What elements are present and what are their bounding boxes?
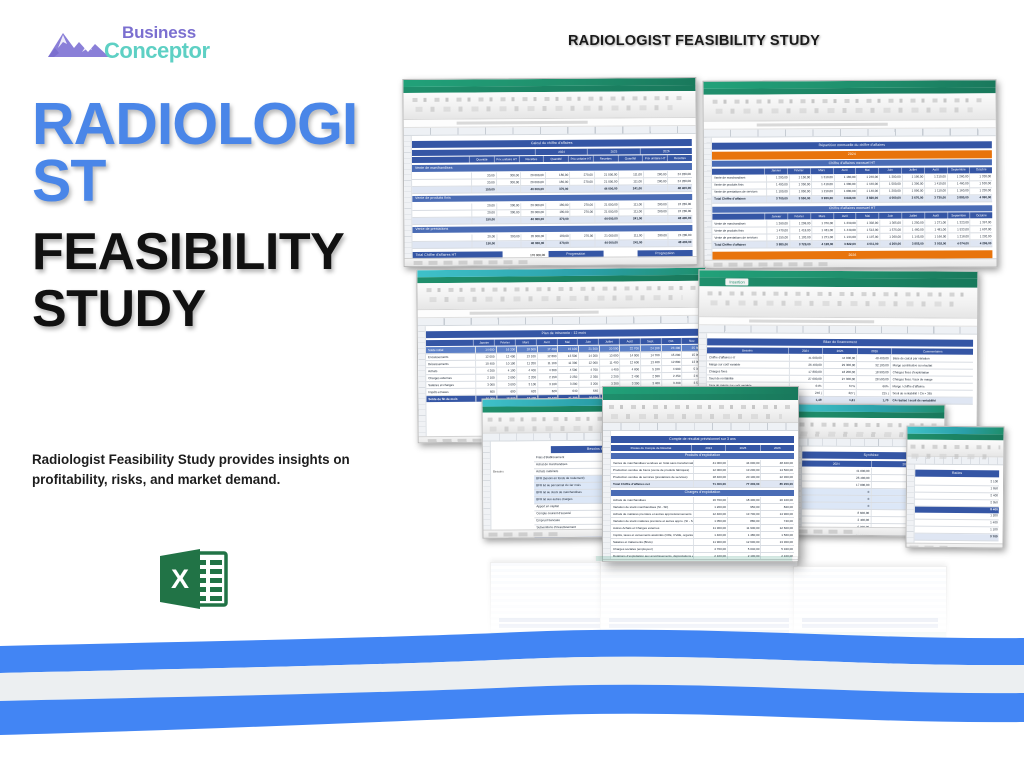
month-aug-2: Août — [925, 213, 948, 219]
col-2025: 2025 — [823, 348, 858, 354]
month-aug: Août — [925, 167, 948, 173]
worksheet-grid[interactable]: Calcul du chiffre d'affaires 2024 2025 2… — [404, 134, 697, 258]
col-besoins: Besoins — [707, 347, 789, 354]
ribbon-toolbar[interactable] — [907, 440, 1003, 458]
col-price-2: Prix unitaire HT — [569, 156, 594, 162]
year-2025: 2025 — [588, 148, 640, 155]
col-2026: 2026 — [858, 348, 893, 354]
section-title-2: Chiffre d'affaires mensuel HT — [712, 205, 992, 212]
col-rev-2: Recettes — [594, 156, 619, 162]
month-oct: Octobre — [970, 167, 992, 173]
month-feb: Février — [788, 168, 811, 174]
section-label-2: Vente de prestations — [412, 225, 692, 234]
month-jan-2: Janvier — [765, 214, 788, 220]
mountain-icon — [46, 26, 112, 60]
month-jan: Janvier — [765, 168, 788, 174]
worksheet-grid[interactable]: Compte de résultat prévisionnel sur 3 an… — [603, 431, 798, 559]
col-rev-3: Recettes — [668, 155, 692, 161]
table-row-total: Total Chiffre d'affaires net71 400,0077 … — [611, 481, 794, 488]
ribbon-tab-insertion[interactable]: Insertion — [725, 278, 748, 285]
month-mar: Mars — [811, 168, 834, 174]
svg-text:X: X — [171, 564, 189, 594]
section-charges: Charges d'exploitation — [611, 490, 794, 496]
col-price-3: Prix unitaire HT — [643, 155, 668, 161]
month-apr: Avril — [834, 168, 857, 174]
subtitle-text: Radiologist Feasibility Study provides i… — [32, 450, 372, 490]
month-apr-2: Avril — [834, 213, 857, 219]
year-band-2024: 2024 — [712, 150, 992, 159]
col-price-1: Prix unitaire HT — [495, 156, 520, 162]
month-jul-2: Juillet — [902, 213, 925, 219]
month-mar-2: Mars — [811, 213, 834, 219]
sheet-title-band: Ratios — [915, 469, 999, 478]
window-title-bar — [907, 427, 1003, 435]
col-qty-2: Quantité — [544, 156, 569, 162]
logo-word-conceptor: Conceptor — [104, 38, 210, 64]
col-comments: Commentaires — [892, 348, 973, 355]
month-jun: Juin — [879, 167, 902, 173]
monthly-breakdown-window[interactable]: Répartition mensuelle du chiffre d'affai… — [703, 79, 998, 269]
month-feb-2: Février — [788, 213, 811, 219]
hero-title-block: RADIOLOGIST FEASIBILITY STUDY — [32, 96, 377, 337]
table-row: Autres Achats et Charges externes11 300,… — [611, 525, 794, 532]
window-title-bar — [794, 404, 944, 412]
ribbon-toolbar[interactable] — [603, 400, 798, 423]
income-statement-window[interactable]: Compte de résultat prévisionnel sur 3 an… — [602, 386, 799, 562]
sheet-title-band: Bilan de financement — [707, 338, 973, 347]
month-may: Mai — [856, 168, 879, 174]
poster-canvas: Business Conceptor RADIOLOGIST FEASIBILI… — [0, 0, 1024, 768]
status-bar — [906, 543, 1002, 549]
sheet-title-band: Compte de résultat prévisionnel sur 3 an… — [611, 436, 794, 444]
col-2025: 2025 — [726, 445, 760, 451]
table-row-total: Total Chiffre d'affaires 3 885,003 729,0… — [712, 241, 992, 249]
column-headers-row — [603, 423, 798, 431]
section-label-0: Vente de marchandises — [412, 163, 692, 172]
table-row-total: 150,0040 000,00 370,0044 000,00241,0048 … — [412, 216, 692, 225]
hero-title-rest: FEASIBILITY STUDY — [32, 224, 377, 336]
screenshot-collage: Calcul du chiffre d'affaires 2024 2025 2… — [395, 70, 1010, 580]
table-row: Impôts, taxes et versements assimilés (C… — [611, 532, 794, 539]
formula-bar[interactable] — [704, 120, 996, 130]
table-row: Variation de stock marchandises (SI - SF… — [611, 504, 794, 511]
month-sep-2: Septembre — [948, 213, 971, 219]
ribbon-toolbar[interactable] — [403, 91, 695, 120]
col-rev-1: Recettes — [519, 156, 544, 162]
status-bar — [704, 258, 996, 269]
side-label: Besoins — [491, 455, 535, 538]
worksheet-grid[interactable]: Ratios 2 100 1 850 2 400 2 050 8 400 1 2… — [907, 465, 1004, 544]
col-2024: 2024 — [692, 445, 726, 451]
section-label-1: Vente de produits finis — [412, 194, 692, 203]
col-postes: Postes du Compte de Résultat — [611, 445, 692, 451]
revenue-calculation-window[interactable]: Calcul du chiffre d'affaires 2024 2025 2… — [402, 77, 697, 267]
sheet-title-band: Plan de trésorerie - 12 mois — [426, 328, 702, 338]
col-2024: 2024 — [789, 348, 824, 354]
col-qty-1: Quantité — [470, 157, 495, 163]
month-may-2: Mai — [857, 213, 880, 219]
ratios-window[interactable]: Ratios 2 100 1 850 2 400 2 050 8 400 1 2… — [905, 426, 1004, 549]
table-row: Ventes de marchandises vendues en l'état… — [611, 460, 794, 467]
table-row-total: Total Chiffre d'affaires 3 700,003 550,0… — [712, 195, 992, 203]
section-produits: Produits d'exploitation — [611, 453, 794, 459]
window-title-bar — [603, 387, 798, 394]
column-label-row: Postes du Compte de Résultat 2024 2025 2… — [611, 445, 794, 451]
bottom-wave-decoration — [0, 620, 1024, 768]
status-bar — [405, 256, 697, 267]
month-oct-2: Octobre — [971, 213, 993, 219]
table-row: Salaires et traitements (Bruts)11 900,00… — [611, 539, 794, 546]
year-2026: 2026 — [641, 148, 692, 155]
ribbon-toolbar[interactable] — [417, 281, 705, 311]
hero-title-highlight: RADIOLOGIST — [32, 96, 377, 210]
section-title-1: Chiffre d'affaires mensuel HT — [712, 160, 992, 167]
sheet-title-band: Calcul du chiffre d'affaires — [412, 139, 692, 149]
col-2026: 2026 — [761, 445, 794, 451]
formula-bar[interactable] — [699, 317, 977, 326]
table-row-total: 150,0040 000,00 370,0044 000,00241,0048 … — [412, 185, 692, 194]
table-row: Achats de marchandises16 700,0018 400,00… — [611, 497, 794, 504]
excel-file-icon: X — [158, 547, 228, 611]
month-sep: Septembre — [947, 167, 970, 173]
table-row: Variation de stock matières première et … — [611, 518, 794, 525]
sheet-title-band: Répartition mensuelle du chiffre d'affai… — [712, 141, 992, 150]
year-2024: 2024 — [536, 149, 588, 156]
table-row-total: 150,0040 000,00 370,0044 000,00241,0048 … — [412, 240, 692, 249]
column-label-row: Quantité Prix unitaire HT Recettes Quant… — [412, 155, 692, 163]
ribbon-toolbar[interactable] — [704, 93, 996, 122]
table-row: Charges sociales (employeur)4 760,005 04… — [611, 546, 794, 553]
col-qty-3: Quantité — [619, 156, 644, 162]
table-row: Production vendue de services (prestatio… — [611, 474, 794, 481]
brand-logo[interactable]: Business Conceptor — [46, 22, 256, 70]
table-row: Achats de matières première et autres ap… — [611, 511, 794, 518]
worksheet-grid[interactable]: Répartition mensuelle du chiffre d'affai… — [704, 136, 997, 260]
month-jul: Juillet — [902, 167, 925, 173]
table-row-total: 3 700 — [915, 534, 999, 542]
table-row: Production vendue de biens (vente de pro… — [611, 467, 794, 474]
ribbon-toolbar[interactable] — [699, 286, 977, 318]
header-title: RADIOLOGIST FEASIBILITY STUDY — [568, 33, 820, 49]
month-jun-2: Juin — [879, 213, 902, 219]
